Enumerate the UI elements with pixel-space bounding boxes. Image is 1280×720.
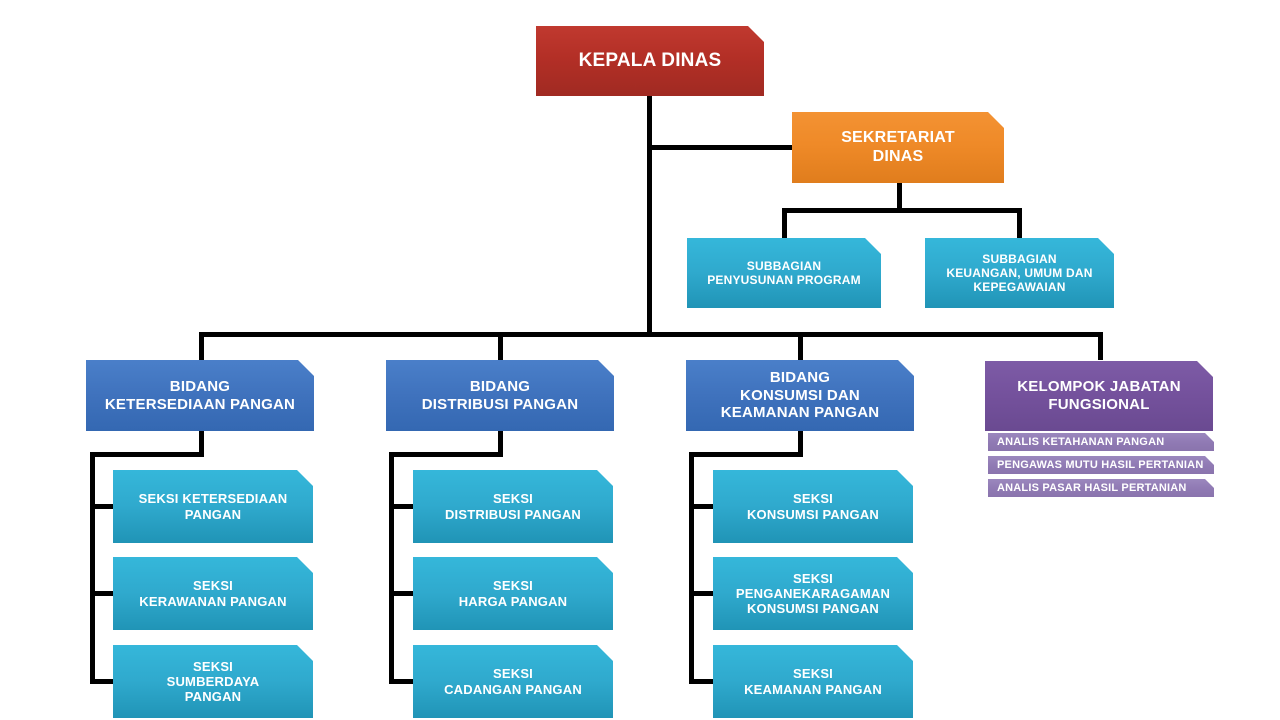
node-sekretariat-dinas-label: SEKRETARIAT DINAS — [841, 129, 955, 167]
node-subbagian-penyusunan-program-label: SUBBAGIAN PENYUSUNAN PROGRAM — [707, 259, 861, 287]
connector-division-drop-3 — [798, 332, 803, 360]
connector-secretariat-trunk — [897, 183, 902, 211]
org-chart-canvas: KEPALA DINAS SEKRETARIAT DINAS SUBBAGIAN… — [0, 0, 1280, 720]
connector-col2-spine — [389, 452, 394, 684]
node-jabatan-analis-ketahanan-pangan-label: ANALIS KETAHANAN PANGAN — [997, 436, 1164, 449]
connector-head-to-secretariat — [647, 145, 793, 150]
node-bidang-ketersediaan-pangan-label: BIDANG KETERSEDIAAN PANGAN — [105, 378, 295, 413]
node-bidang-konsumsi-keamanan-pangan-label: BIDANG KONSUMSI DAN KEAMANAN PANGAN — [721, 369, 880, 422]
connector-secretariat-bus — [782, 208, 1022, 213]
node-seksi-keamanan-pangan[interactable]: SEKSI KEAMANAN PANGAN — [713, 645, 913, 718]
node-seksi-sumberdaya-pangan-label: SEKSI SUMBERDAYA PANGAN — [167, 659, 260, 705]
node-seksi-cadangan-pangan[interactable]: SEKSI CADANGAN PANGAN — [413, 645, 613, 718]
node-seksi-penganekaragaman-konsumsi-pangan-label: SEKSI PENGANEKARAGAMAN KONSUMSI PANGAN — [736, 571, 890, 617]
connector-division-bus — [199, 332, 1103, 337]
node-seksi-konsumsi-pangan[interactable]: SEKSI KONSUMSI PANGAN — [713, 470, 913, 543]
node-seksi-distribusi-pangan[interactable]: SEKSI DISTRIBUSI PANGAN — [413, 470, 613, 543]
node-seksi-kerawanan-pangan-label: SEKSI KERAWANAN PANGAN — [139, 578, 286, 609]
connector-col2-top — [389, 452, 503, 457]
connector-col1-top — [90, 452, 204, 457]
connector-division-drop-4 — [1098, 332, 1103, 360]
node-jabatan-pengawas-mutu-hasil-pertanian[interactable]: PENGAWAS MUTU HASIL PERTANIAN — [988, 456, 1214, 474]
connector-head-trunk — [647, 96, 652, 336]
node-kelompok-jabatan-fungsional-label: KELOMPOK JABATAN FUNGSIONAL — [1017, 378, 1180, 413]
node-seksi-sumberdaya-pangan[interactable]: SEKSI SUMBERDAYA PANGAN — [113, 645, 313, 718]
node-seksi-kerawanan-pangan[interactable]: SEKSI KERAWANAN PANGAN — [113, 557, 313, 630]
node-jabatan-analis-pasar-hasil-pertanian[interactable]: ANALIS PASAR HASIL PERTANIAN — [988, 479, 1214, 497]
connector-division-drop-2 — [498, 332, 503, 360]
node-seksi-penganekaragaman-konsumsi-pangan[interactable]: SEKSI PENGANEKARAGAMAN KONSUMSI PANGAN — [713, 557, 913, 630]
node-subbagian-penyusunan-program[interactable]: SUBBAGIAN PENYUSUNAN PROGRAM — [687, 238, 881, 308]
node-seksi-ketersediaan-pangan-label: SEKSI KETERSEDIAAN PANGAN — [139, 491, 288, 522]
node-bidang-distribusi-pangan-label: BIDANG DISTRIBUSI PANGAN — [422, 378, 578, 413]
node-jabatan-analis-ketahanan-pangan[interactable]: ANALIS KETAHANAN PANGAN — [988, 433, 1214, 451]
connector-subsection-drop-2 — [1017, 208, 1022, 238]
node-seksi-harga-pangan-label: SEKSI HARGA PANGAN — [459, 578, 568, 609]
node-seksi-distribusi-pangan-label: SEKSI DISTRIBUSI PANGAN — [445, 491, 581, 522]
node-bidang-ketersediaan-pangan[interactable]: BIDANG KETERSEDIAAN PANGAN — [86, 360, 314, 431]
node-jabatan-analis-pasar-hasil-pertanian-label: ANALIS PASAR HASIL PERTANIAN — [997, 482, 1187, 495]
node-jabatan-pengawas-mutu-hasil-pertanian-label: PENGAWAS MUTU HASIL PERTANIAN — [997, 459, 1203, 472]
connector-col3-top — [689, 452, 803, 457]
node-bidang-konsumsi-keamanan-pangan[interactable]: BIDANG KONSUMSI DAN KEAMANAN PANGAN — [686, 360, 914, 431]
connector-col3-spine — [689, 452, 694, 684]
node-seksi-harga-pangan[interactable]: SEKSI HARGA PANGAN — [413, 557, 613, 630]
node-kepala-dinas[interactable]: KEPALA DINAS — [536, 26, 764, 96]
node-sekretariat-dinas[interactable]: SEKRETARIAT DINAS — [792, 112, 1004, 183]
node-kelompok-jabatan-fungsional[interactable]: KELOMPOK JABATAN FUNGSIONAL — [985, 361, 1213, 431]
node-seksi-ketersediaan-pangan[interactable]: SEKSI KETERSEDIAAN PANGAN — [113, 470, 313, 543]
connector-col1-spine — [90, 452, 95, 684]
connector-subsection-drop-1 — [782, 208, 787, 238]
node-subbagian-keuangan-umum-kepegawaian-label: SUBBAGIAN KEUANGAN, UMUM DAN KEPEGAWAIAN — [946, 252, 1092, 294]
node-seksi-cadangan-pangan-label: SEKSI CADANGAN PANGAN — [444, 666, 582, 697]
node-subbagian-keuangan-umum-kepegawaian[interactable]: SUBBAGIAN KEUANGAN, UMUM DAN KEPEGAWAIAN — [925, 238, 1114, 308]
node-seksi-keamanan-pangan-label: SEKSI KEAMANAN PANGAN — [744, 666, 882, 697]
node-seksi-konsumsi-pangan-label: SEKSI KONSUMSI PANGAN — [747, 491, 879, 522]
node-bidang-distribusi-pangan[interactable]: BIDANG DISTRIBUSI PANGAN — [386, 360, 614, 431]
connector-division-drop-1 — [199, 332, 204, 360]
node-kepala-dinas-label: KEPALA DINAS — [579, 50, 722, 72]
